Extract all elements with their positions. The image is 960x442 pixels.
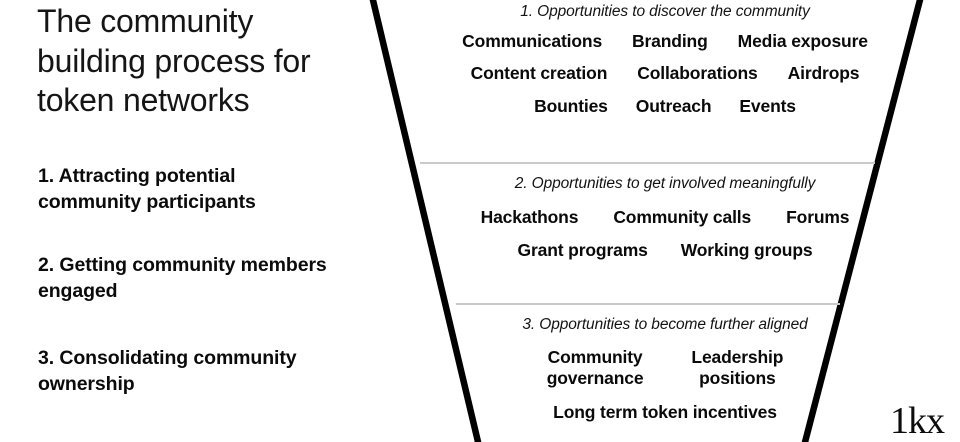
funnel-section-2: 2. Opportunities to get involved meaning… [370, 163, 960, 304]
funnel-item: Outreach [636, 96, 712, 117]
funnel-item: Branding [632, 31, 708, 52]
funnel-section-3-row-1: Community governance Leadership position… [370, 347, 960, 390]
funnel-section-3-heading: 3. Opportunities to become further align… [370, 316, 960, 333]
funnel-content: 1. Opportunities to discover the communi… [370, 0, 960, 442]
funnel-section-1: 1. Opportunities to discover the communi… [370, 0, 960, 163]
funnel-item: Working groups [681, 240, 813, 261]
stage-item-2: 2. Getting community members engaged [38, 253, 338, 305]
slide-canvas: The community building process for token… [0, 0, 960, 442]
stage-item-1: 1. Attracting potential community partic… [38, 164, 338, 216]
brand-logo: 1kx [890, 402, 944, 440]
funnel-section-1-row-2: Content creation Collaborations Airdrops [370, 63, 960, 84]
funnel-item: Hackathons [481, 207, 579, 228]
stage-item-3: 3. Consolidating community ownership [38, 346, 338, 398]
funnel-section-2-heading: 2. Opportunities to get involved meaning… [370, 175, 960, 192]
funnel-item: Bounties [534, 96, 608, 117]
funnel-section-2-row-2: Grant programs Working groups [370, 240, 960, 261]
funnel-item: Forums [786, 207, 849, 228]
funnel-item: Community calls [613, 207, 751, 228]
funnel-item: Content creation [471, 63, 608, 84]
funnel-item: Media exposure [738, 31, 868, 52]
funnel-item: Airdrops [788, 63, 860, 84]
funnel-item: Communications [462, 31, 602, 52]
funnel-item: Collaborations [637, 63, 757, 84]
funnel-section-1-row-1: Communications Branding Media exposure [370, 31, 960, 52]
funnel-item: Community governance [547, 347, 644, 390]
funnel-item: Grant programs [518, 240, 648, 261]
funnel-section-3-row-2: Long term token incentives [370, 402, 960, 423]
funnel-section-3: 3. Opportunities to become further align… [370, 304, 960, 442]
funnel-item: Events [739, 96, 796, 117]
page-title: The community building process for token… [37, 2, 367, 121]
funnel-item: Leadership positions [691, 347, 783, 390]
funnel-section-2-row-1: Hackathons Community calls Forums [370, 207, 960, 228]
funnel-section-1-heading: 1. Opportunities to discover the communi… [370, 3, 960, 20]
left-panel: The community building process for token… [0, 0, 370, 442]
funnel-section-1-row-3: Bounties Outreach Events [370, 96, 960, 117]
funnel-item: Long term token incentives [553, 402, 777, 423]
